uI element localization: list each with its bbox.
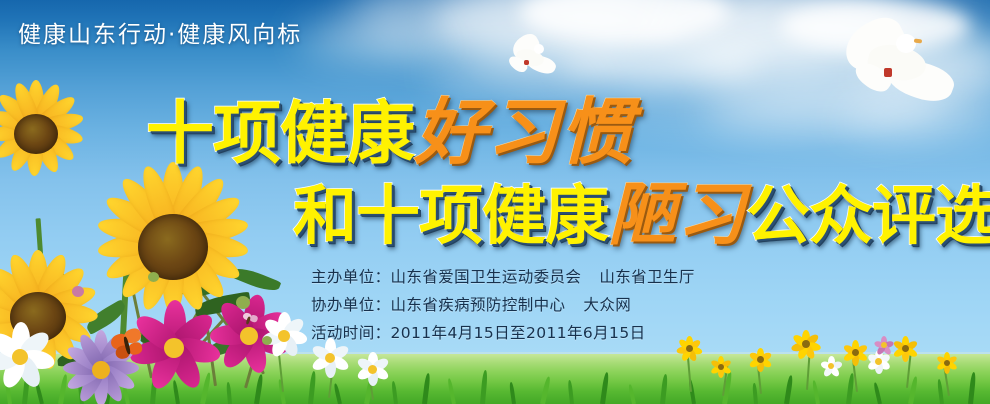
yellow-daisy-icon	[936, 352, 960, 372]
organizer-name-2: 山东省卫生厅	[599, 268, 694, 286]
flower-bud	[236, 296, 250, 309]
event-time-label: 活动时间：	[311, 324, 391, 342]
title-line-1-orange: 好习惯	[414, 89, 633, 174]
white-cosmos-icon	[354, 352, 392, 386]
event-time-value: 2011年4月15日至2011年6月15日	[391, 324, 646, 342]
pink-cosmos-icon	[874, 336, 894, 354]
header-kicker: 健康山东行动·健康风向标	[18, 24, 302, 47]
dove-icon	[840, 18, 950, 108]
coorganizer-name-2: 大众网	[583, 296, 631, 314]
yellow-daisy-icon	[790, 330, 822, 358]
dove-icon	[502, 36, 554, 80]
coorganizer-label: 协办单位：	[311, 296, 391, 314]
title-line-2-yellow-a: 和十项健康	[293, 180, 608, 254]
organizer-line: 主办单位：山东省爱国卫生运动委员会山东省卫生厅	[311, 263, 695, 291]
white-cosmos-icon	[820, 356, 842, 376]
coorganizer-line: 协办单位：山东省疾病预防控制中心大众网	[311, 291, 695, 319]
yellow-daisy-icon	[748, 348, 774, 370]
yellow-daisy-icon	[710, 356, 734, 376]
white-cosmos-icon	[258, 312, 310, 358]
health-campaign-banner: 健康山东行动·健康风向标 十项健康好习惯 和十项健康陋习公众评选 主办单位：山东…	[0, 0, 990, 404]
flower-bud	[148, 272, 159, 282]
title-line-2-yellow-b: 公众评选	[746, 180, 990, 254]
coorganizer-name-1: 山东省疾病预防控制中心	[391, 296, 566, 314]
event-time-line: 活动时间：2011年4月15日至2011年6月15日	[311, 319, 695, 347]
white-cosmos-icon	[0, 322, 58, 390]
organizer-name-1: 山东省爱国卫生运动委员会	[391, 268, 582, 286]
title-line-1-yellow: 十项健康	[146, 95, 414, 174]
main-title-line-2: 和十项健康陋习公众评选	[293, 181, 990, 249]
event-info-block: 主办单位：山东省爱国卫生运动委员会山东省卫生厅 协办单位：山东省疾病预防控制中心…	[311, 263, 695, 347]
flower-bud	[262, 336, 272, 345]
title-line-2-orange: 陋习	[608, 175, 746, 255]
cloud-icon	[300, 18, 450, 60]
main-title-line-1: 十项健康好习惯	[146, 96, 633, 169]
yellow-daisy-icon	[892, 336, 920, 360]
organizer-label: 主办单位：	[311, 268, 391, 286]
flower-bud	[72, 286, 84, 297]
